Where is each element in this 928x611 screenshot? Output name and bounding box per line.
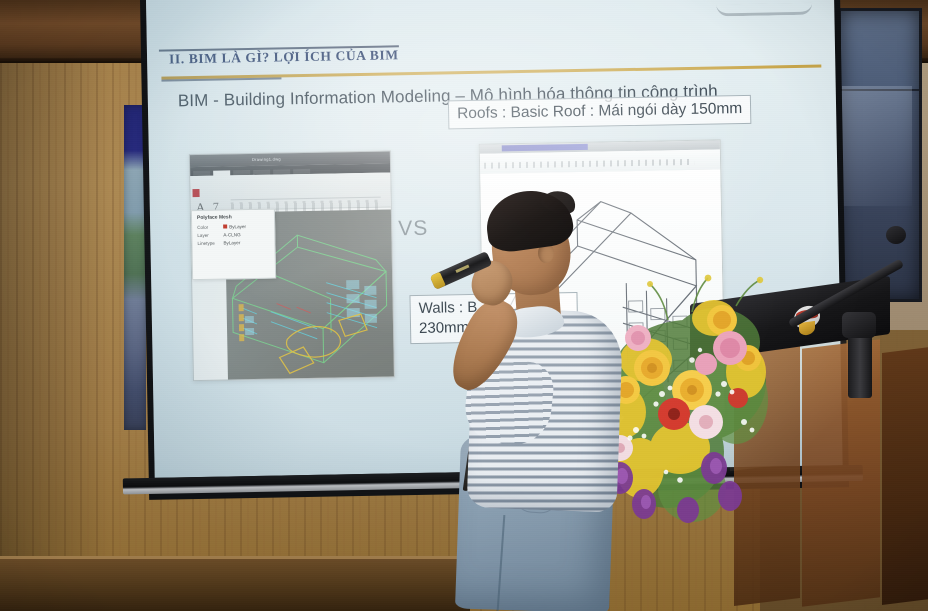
property-key: Linetype	[197, 240, 223, 245]
property-value: A-CLNG	[223, 232, 240, 237]
autocad-ribbon: A 7	[190, 172, 391, 211]
property-key: Color	[197, 224, 223, 229]
microphone-marking	[455, 265, 469, 273]
baseboard-trim	[0, 556, 470, 559]
autocad-properties-panel: Polyface Mesh Color ByLayer Layer A-CLNG…	[191, 209, 276, 281]
slide-title: II. BIM LÀ GÌ? LỢI ÍCH CỦA BIM	[169, 42, 689, 68]
roof-callout: Roofs : Basic Roof : Mái ngói dày 150mm	[448, 95, 752, 129]
window-glare	[842, 86, 912, 206]
property-value: ByLayer	[229, 224, 246, 229]
property-value: ByLayer	[223, 240, 240, 245]
color-swatch-icon	[223, 225, 227, 229]
mic-stand-clutch	[842, 312, 876, 338]
revit-titlebar-accent	[502, 144, 588, 152]
comparison-label: VS	[398, 217, 428, 242]
property-key: Layer	[197, 232, 223, 237]
logo-swoosh-icon	[716, 3, 812, 17]
presentation-photo: RVN II. BIM LÀ GÌ? LỢI ÍCH CỦA BIM BIM -…	[0, 0, 928, 611]
microphone-gold-band	[430, 272, 446, 290]
autocad-window: Drawing1.dwg A 7	[189, 150, 395, 381]
mic-stand-pole	[848, 332, 872, 398]
autocad-app-icon[interactable]	[192, 189, 199, 197]
property-row: Linetype ByLayer	[192, 238, 274, 248]
wall-baseboard	[0, 556, 470, 611]
podium-panel	[882, 347, 928, 605]
revit-ribbon-icons	[484, 159, 694, 169]
boom-microphone-icon	[886, 226, 906, 244]
speaker	[430, 185, 650, 611]
organization-logo: RVN	[712, 0, 817, 20]
